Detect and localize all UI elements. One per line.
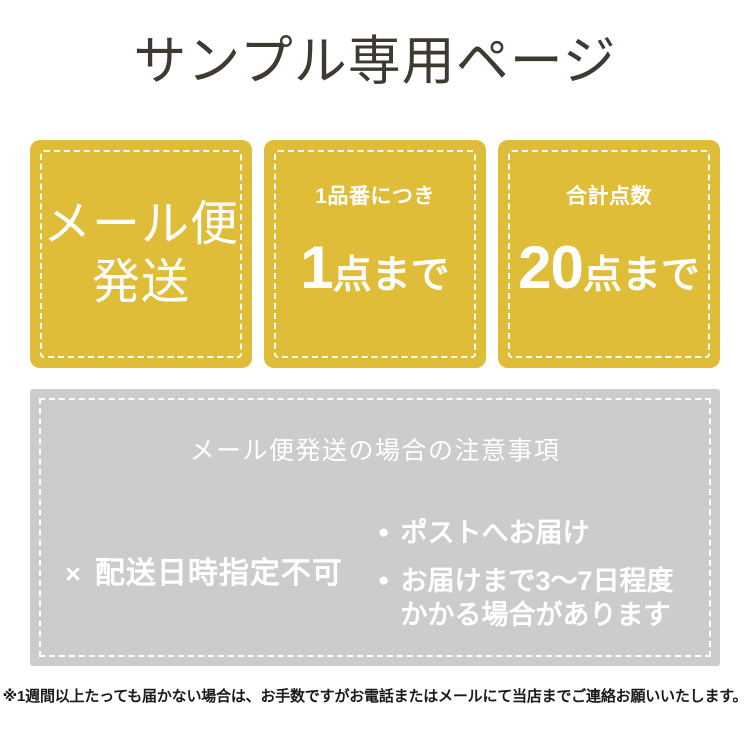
card-total-limit-caption: 合計点数 bbox=[566, 184, 652, 210]
footer-note: ※1週間以上たっても届かない場合は、お手数ですがお電話またはメールにて当店までご… bbox=[0, 686, 750, 708]
list-item-text-line1: お届けまで3〜7日程度 bbox=[400, 566, 673, 596]
list-item-text: ポストへお届け bbox=[400, 516, 589, 550]
page-title: サンプル専用ページ bbox=[0, 31, 750, 93]
card-total-limit-number: 20 bbox=[518, 238, 583, 298]
list-item: ● ポストへお届け bbox=[378, 516, 720, 550]
card-per-item-limit-number: 1 bbox=[300, 238, 332, 298]
list-item-text-line1: ポストへお届け bbox=[400, 518, 589, 548]
card-total-limit-value: 20 点まで bbox=[518, 238, 700, 306]
cross-mark-icon: × bbox=[65, 556, 82, 592]
promo-banner: サンプル専用ページ メール便 発送 1品番につき 1 点まで 合計点数 20 点… bbox=[0, 0, 750, 750]
bullet-dot-icon: ● bbox=[378, 564, 389, 598]
card-mail-shipping-line1: メール便 bbox=[43, 196, 239, 254]
bullet-dot-icon: ● bbox=[378, 516, 389, 550]
shipping-notice-panel: メール便発送の場合の注意事項 × 配送日時指定不可 ● ポストへお届け ● bbox=[30, 389, 720, 666]
card-per-item-limit-caption: 1品番につき bbox=[315, 184, 435, 210]
card-per-item-limit-value: 1 点まで bbox=[300, 238, 449, 306]
card-mail-shipping-line2: 発送 bbox=[92, 254, 190, 312]
card-per-item-limit: 1品番につき 1 点まで bbox=[264, 140, 486, 368]
shipping-notice-body: × 配送日時指定不可 ● ポストへお届け ● お届けまで3〜7日程度 かかる場合… bbox=[30, 499, 720, 649]
no-date-designation: × 配送日時指定不可 bbox=[65, 556, 343, 592]
card-per-item-limit-unit: 点まで bbox=[333, 246, 450, 306]
list-item: ● お届けまで3〜7日程度 かかる場合があります bbox=[378, 564, 720, 632]
delivery-bullet-list: ● ポストへお届け ● お届けまで3〜7日程度 かかる場合があります bbox=[378, 499, 720, 632]
no-date-designation-block: × 配送日時指定不可 bbox=[30, 499, 378, 649]
shipping-info-card-row: メール便 発送 1品番につき 1 点まで 合計点数 20 点まで bbox=[30, 140, 720, 368]
card-total-limit-unit: 点まで bbox=[583, 246, 700, 306]
card-mail-shipping: メール便 発送 bbox=[30, 140, 252, 368]
list-item-text: お届けまで3〜7日程度 かかる場合があります bbox=[400, 564, 673, 632]
no-date-designation-label: 配送日時指定不可 bbox=[95, 556, 343, 592]
card-total-limit: 合計点数 20 点まで bbox=[498, 140, 720, 368]
list-item-text-line2: かかる場合があります bbox=[400, 600, 670, 630]
shipping-notice-heading: メール便発送の場合の注意事項 bbox=[30, 435, 720, 467]
